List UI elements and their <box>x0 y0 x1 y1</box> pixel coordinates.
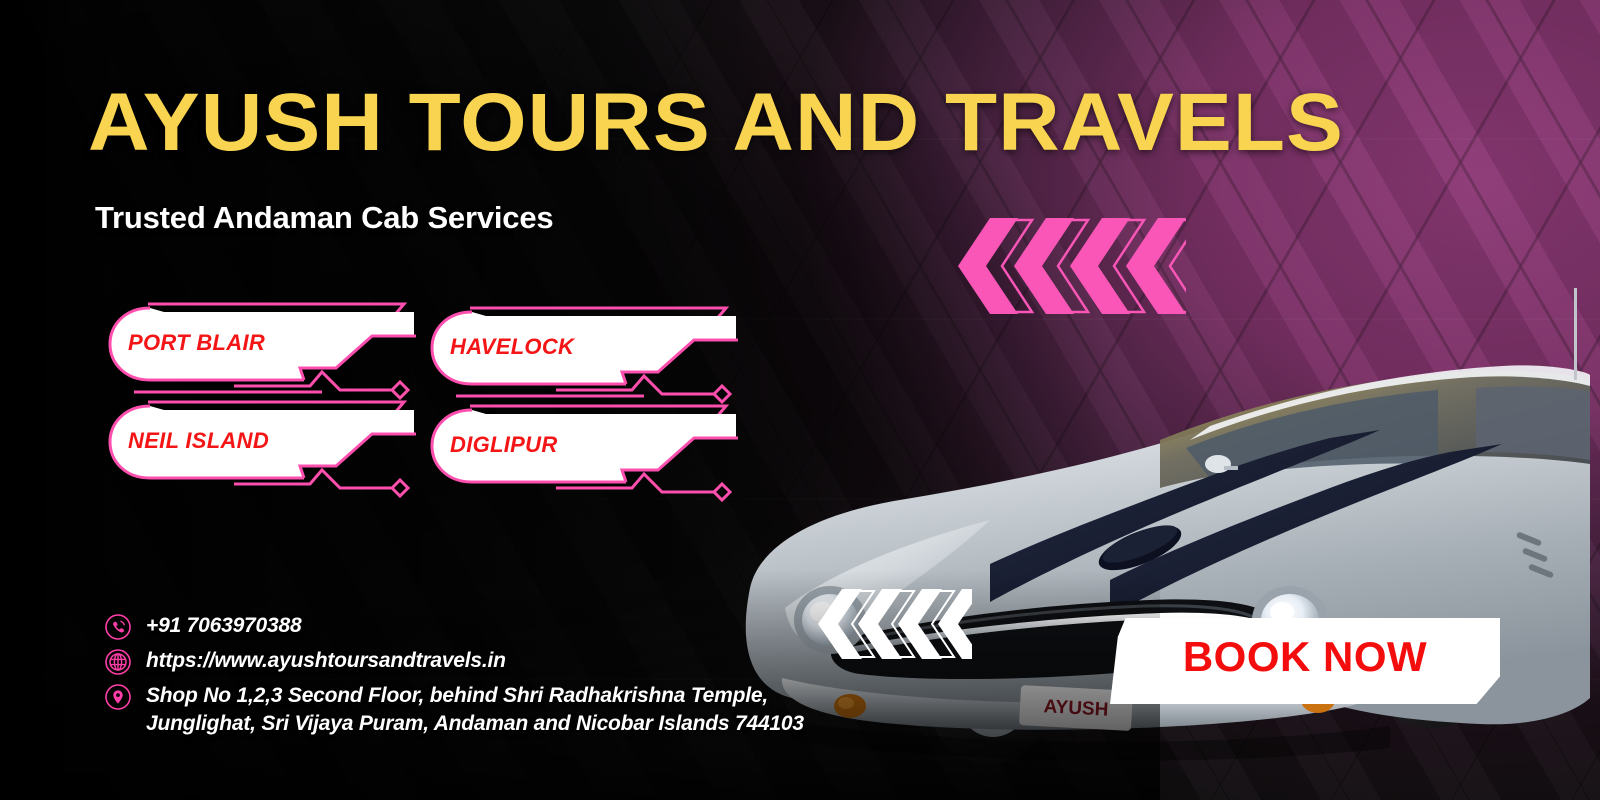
contact-row-website[interactable]: https://www.ayushtoursandtravels.in <box>104 647 984 676</box>
destination-badge-neil-island[interactable]: NEIL ISLAND <box>104 394 414 494</box>
destination-badge-diglipur[interactable]: DIGLIPUR <box>426 398 736 498</box>
contact-row-phone[interactable]: +91 7063970388 <box>104 612 984 641</box>
contact-info: +91 7063970388 https://www.ayushtoursand… <box>104 612 984 743</box>
phone-icon <box>104 613 132 641</box>
destination-badge-label: HAVELOCK <box>450 334 574 360</box>
address-line-1: Shop No 1,2,3 Second Floor, behind Shri … <box>146 682 804 710</box>
destination-badge-label: NEIL ISLAND <box>128 428 269 454</box>
destination-badge-port-blair[interactable]: PORT BLAIR <box>104 296 414 396</box>
pink-chevron-decoration <box>946 214 1186 318</box>
phone-number: +91 7063970388 <box>146 612 301 640</box>
destination-badge-label: PORT BLAIR <box>128 330 265 356</box>
book-now-button[interactable]: BOOK NOW <box>1110 618 1500 704</box>
page-title: AYUSH TOURS AND TRAVELS <box>88 82 1344 164</box>
location-pin-icon <box>104 683 132 711</box>
destination-badge-havelock[interactable]: HAVELOCK <box>426 300 736 400</box>
book-now-label: BOOK NOW <box>1183 633 1427 681</box>
page-subtitle: Trusted Andaman Cab Services <box>95 200 553 236</box>
contact-row-address[interactable]: Shop No 1,2,3 Second Floor, behind Shri … <box>104 682 984 737</box>
promo-banner: AYUSH AYUSH TOURS AND TRAVELS Trusted An… <box>0 0 1600 800</box>
destination-badge-list: PORT BLAIR HAVELOCK N <box>104 296 744 506</box>
globe-icon <box>104 648 132 676</box>
website-url: https://www.ayushtoursandtravels.in <box>146 647 506 675</box>
destination-badge-label: DIGLIPUR <box>450 432 558 458</box>
address-line-2: Junglighat, Sri Vijaya Puram, Andaman an… <box>146 710 804 738</box>
